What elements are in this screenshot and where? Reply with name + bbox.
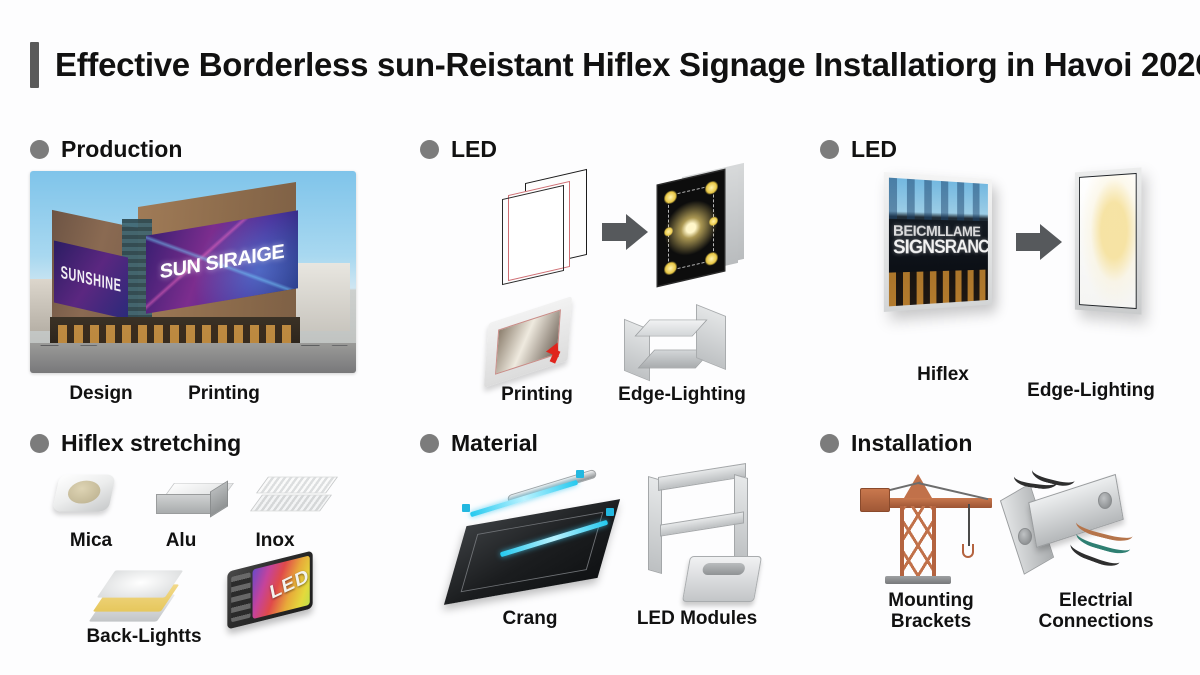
led-module-box — [682, 556, 762, 602]
parked-cars — [30, 337, 356, 351]
crang-lightbar-cap-left — [462, 504, 470, 512]
hiflex-display: BEICMLLAME SIGNSRANCE — [884, 172, 992, 312]
channel-right-wall — [696, 304, 726, 370]
hiflex-display-screen: BEICMLLAME SIGNSRANCE — [889, 178, 988, 307]
panel-led-hiflex-header: LED — [820, 136, 1180, 163]
label-inox: Inox — [228, 530, 322, 551]
label-mounting-brackets: Mounting Brackets — [856, 590, 1006, 633]
crang-lightbar-cap-2 — [606, 508, 614, 516]
led-panel-lit-face — [658, 170, 724, 285]
bracket-hole-left — [1018, 528, 1032, 545]
screen-text-block: BEICMLLAME SIGNSRANCE — [893, 224, 986, 258]
bullet-dot-icon — [420, 140, 439, 159]
led-modules-assembly — [638, 470, 778, 610]
crane-mast — [900, 506, 936, 580]
panel-led-diagram-header: LED — [420, 136, 780, 163]
bracket-hole-right — [1098, 492, 1112, 509]
panel-production: Production SUNSHINE SUN SIRAIGE Design P… — [30, 136, 356, 421]
crane-base — [885, 576, 951, 584]
panel-hiflex-stretching-title: Hiflex stretching — [61, 430, 241, 457]
page-title-row: Effective Borderless sun-Reistant Hiflex… — [30, 42, 1200, 88]
bullet-dot-icon — [30, 434, 49, 453]
title-accent-bar — [30, 42, 39, 88]
panel-material-title: Material — [451, 430, 538, 457]
led-module-chip: LED — [227, 550, 312, 629]
bullet-dot-icon — [820, 140, 839, 159]
label-printing: Printing — [162, 383, 286, 404]
bullet-dot-icon — [420, 434, 439, 453]
label-edge-lighting-2: Edge-Lighting — [1008, 380, 1174, 401]
edge-lit-panel — [1075, 167, 1142, 314]
label-electrical-line2: Connections — [1008, 611, 1184, 632]
screen-text-line2: SIGNSRANCE — [893, 239, 986, 258]
billboard-left-text: SUNSHINE — [61, 263, 122, 296]
label-mica: Mica — [46, 530, 136, 551]
edge-lit-panel-surface — [1079, 173, 1137, 309]
led-module-contacts — [231, 572, 250, 622]
infographic-page: Effective Borderless sun-Reistant Hiflex… — [0, 0, 1200, 675]
label-electrical-line1: Electrial — [1008, 590, 1184, 611]
bullet-dot-icon — [30, 140, 49, 159]
panel-installation-title: Installation — [851, 430, 972, 457]
label-back-lightts: Back-Lightts — [60, 626, 228, 647]
electrical-bracket-icon — [1006, 466, 1176, 588]
panel-production-header: Production — [30, 136, 356, 163]
label-alu: Alu — [138, 530, 224, 551]
panel-installation-header: Installation — [820, 430, 1190, 457]
crane-icon — [856, 474, 1016, 584]
panel-hiflex-stretching-header: Hiflex stretching — [30, 430, 400, 457]
panel-led-hiflex-title: LED — [851, 136, 897, 163]
panel-installation: Installation Mou — [820, 430, 1190, 645]
back-lights-stack — [98, 560, 208, 622]
right-arrow-icon — [602, 214, 650, 250]
panel-production-title: Production — [61, 136, 182, 163]
screen-sky-graphic — [889, 178, 988, 221]
alu-front-face — [156, 494, 212, 514]
printing-tray — [484, 296, 572, 388]
production-photo: SUNSHINE SUN SIRAIGE — [30, 171, 356, 373]
crane-counterweight — [860, 488, 890, 512]
crang-lightbar-cap-right — [576, 470, 584, 478]
mica-dome — [66, 481, 103, 504]
crane-hook — [962, 544, 974, 558]
inox-sheet-upper — [256, 477, 338, 494]
page-title: Effective Borderless sun-Reistant Hiflex… — [55, 46, 1200, 84]
panel-led-diagram-title: LED — [451, 136, 497, 163]
billboard-right-text: SUN SIRAIGE — [160, 240, 285, 284]
panel-hiflex-stretching: Hiflex stretching Mica Alu Inox — [30, 430, 400, 645]
module-frame-mid-rail — [660, 511, 744, 536]
bullet-dot-icon — [820, 434, 839, 453]
panel-led-diagram: LED — [420, 136, 780, 416]
screen-text-line1: BEICMLLAME — [893, 224, 986, 239]
panel-material-header: Material — [420, 430, 790, 457]
label-crang: Crang — [470, 608, 590, 629]
label-hiflex: Hiflex — [890, 364, 996, 385]
label-mounting-line2: Brackets — [856, 611, 1006, 632]
screen-shops-graphic — [889, 270, 988, 307]
panel-material: Material Crang LED Modules — [420, 430, 790, 645]
frame-sheet-outline — [502, 185, 564, 285]
right-arrow-icon — [1016, 224, 1064, 260]
label-printing-2: Printing — [482, 384, 592, 405]
label-edge-lighting: Edge-Lighting — [602, 384, 762, 405]
crang-board-groove — [461, 512, 604, 592]
edge-lighting-channel — [620, 302, 740, 388]
module-frame-top-rail — [658, 463, 746, 491]
label-led-modules: LED Modules — [614, 608, 780, 629]
panel-led-hiflex: LED BEICMLLAME SIGNSRANCE Hiflex Edge-Li… — [820, 136, 1180, 416]
mica-body — [52, 475, 116, 512]
label-design: Design — [46, 383, 156, 404]
label-electrical-connections: Electrial Connections — [1008, 590, 1184, 633]
label-mounting-line1: Mounting — [856, 590, 1006, 611]
crane-cable — [968, 504, 970, 546]
inox-sheet-lower — [250, 495, 332, 512]
